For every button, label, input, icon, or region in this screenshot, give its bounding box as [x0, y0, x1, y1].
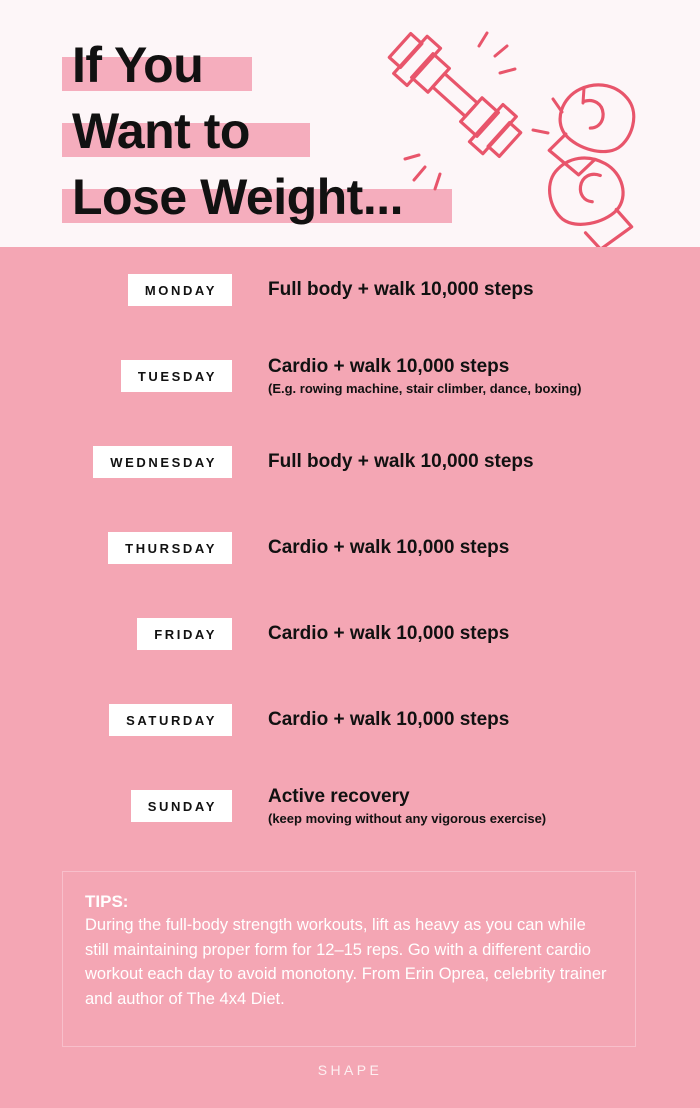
workout-description: Active recovery (keep moving without any…	[268, 763, 688, 849]
brand-wordmark: SHAPE	[318, 1062, 382, 1078]
tips-body: During the full-body strength workouts, …	[85, 913, 613, 1011]
title-text-1: If You	[72, 37, 203, 93]
title-text-2: Want to	[72, 103, 250, 159]
boxing-gloves-icon	[542, 74, 643, 247]
workout-main-text: Cardio + walk 10,000 steps	[268, 708, 688, 732]
day-label-wrap: MONDAY	[0, 247, 232, 333]
schedule-row-wednesday: WEDNESDAY Full body + walk 10,000 steps	[0, 419, 700, 505]
day-label-wrap: FRIDAY	[0, 591, 232, 677]
workout-description: Full body + walk 10,000 steps	[268, 419, 688, 505]
tips-title: TIPS:	[85, 890, 613, 913]
day-label-tuesday: TUESDAY	[121, 360, 232, 392]
schedule-row-friday: FRIDAY Cardio + walk 10,000 steps	[0, 591, 700, 677]
day-label-thursday: THURSDAY	[108, 532, 232, 564]
workout-sub-text: (E.g. rowing machine, stair climber, dan…	[268, 380, 688, 397]
weekly-schedule: MONDAY Full body + walk 10,000 steps TUE…	[0, 247, 700, 849]
footer: SHAPE	[0, 1062, 700, 1080]
day-label-wrap: TUESDAY	[0, 333, 232, 419]
day-label-wednesday: WEDNESDAY	[93, 446, 232, 478]
workout-main-text: Cardio + walk 10,000 steps	[268, 355, 688, 379]
day-label-wrap: WEDNESDAY	[0, 419, 232, 505]
schedule-row-monday: MONDAY Full body + walk 10,000 steps	[0, 247, 700, 333]
workout-description: Cardio + walk 10,000 steps	[268, 677, 688, 763]
tips-box: TIPS: During the full-body strength work…	[62, 871, 636, 1047]
day-label-wrap: SATURDAY	[0, 677, 232, 763]
workout-main-text: Full body + walk 10,000 steps	[268, 278, 688, 302]
workout-description: Cardio + walk 10,000 steps	[268, 591, 688, 677]
schedule-row-tuesday: TUESDAY Cardio + walk 10,000 steps (E.g.…	[0, 333, 700, 419]
workout-description: Full body + walk 10,000 steps	[268, 247, 688, 333]
schedule-row-saturday: SATURDAY Cardio + walk 10,000 steps	[0, 677, 700, 763]
workout-description: Cardio + walk 10,000 steps	[268, 505, 688, 591]
schedule-row-sunday: SUNDAY Active recovery (keep moving with…	[0, 763, 700, 849]
day-label-saturday: SATURDAY	[109, 704, 232, 736]
gloves-impact-lines	[533, 88, 584, 133]
title-line-3: Lose Weight...	[72, 164, 403, 230]
day-label-friday: FRIDAY	[137, 618, 232, 650]
day-label-sunday: SUNDAY	[131, 790, 232, 822]
title-text-3: Lose Weight...	[72, 169, 403, 225]
schedule-row-thursday: THURSDAY Cardio + walk 10,000 steps	[0, 505, 700, 591]
workout-main-text: Active recovery	[268, 785, 688, 809]
day-label-wrap: THURSDAY	[0, 505, 232, 591]
workout-main-text: Cardio + walk 10,000 steps	[268, 536, 688, 560]
day-label-monday: MONDAY	[128, 274, 232, 306]
workout-main-text: Cardio + walk 10,000 steps	[268, 622, 688, 646]
workout-main-text: Full body + walk 10,000 steps	[268, 450, 688, 474]
workout-description: Cardio + walk 10,000 steps (E.g. rowing …	[268, 333, 688, 419]
header-banner: If You Want to Lose Weight...	[0, 0, 700, 247]
infographic-page: If You Want to Lose Weight...	[0, 0, 700, 1108]
day-label-wrap: SUNDAY	[0, 763, 232, 849]
workout-sub-text: (keep moving without any vigorous exerci…	[268, 810, 688, 827]
